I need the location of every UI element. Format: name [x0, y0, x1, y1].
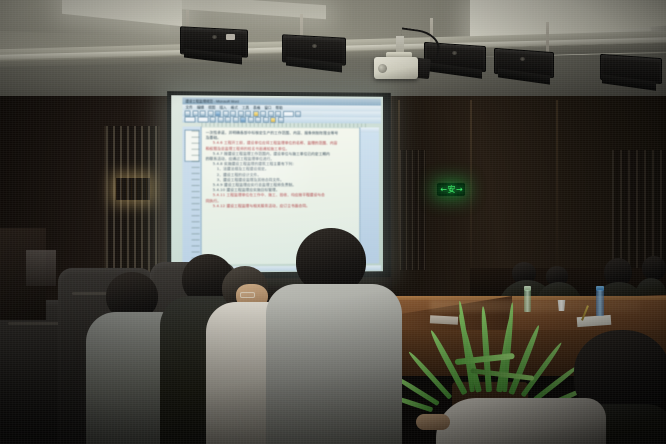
- lattice-screen: [400, 150, 426, 270]
- spotlight-lens: [312, 44, 317, 48]
- menu-item-insert[interactable]: 插入: [219, 105, 226, 110]
- attendee-torso: [266, 284, 402, 444]
- spotlight-lens: [520, 57, 525, 61]
- menu-item-file[interactable]: 文件: [185, 105, 192, 110]
- spotlight-lens: [452, 51, 457, 55]
- menu-item-edit[interactable]: 编辑: [197, 105, 204, 110]
- task-pane[interactable]: [359, 127, 379, 263]
- attendee-head: [642, 256, 666, 280]
- exit-sign: ← 安 →: [437, 183, 465, 196]
- menu-item-window[interactable]: 窗口: [264, 105, 271, 110]
- menu-item-tools[interactable]: 工具: [242, 105, 249, 110]
- ceiling-light-panel: [176, 0, 326, 19]
- menu-item-help[interactable]: 帮助: [276, 105, 283, 110]
- vertical-ruler: [192, 127, 200, 265]
- spotlight-label: [226, 34, 235, 40]
- lattice-screen: [104, 126, 160, 276]
- attendee-hand: [416, 414, 450, 430]
- style-selector[interactable]: [184, 116, 195, 122]
- projector-lens-icon: [378, 64, 387, 73]
- wall-panel-seam: [556, 100, 558, 280]
- conference-room-photo: ← 安 → 建设工程监理规范 - Microsoft Word 文件 编辑 视图…: [0, 0, 666, 444]
- document-line: 一次性承诺，并明确各部中标核定生产的工作范围、内容、报条例制年限业等号: [206, 131, 356, 137]
- attendee-torso: [436, 398, 606, 444]
- lattice-backlight: [116, 178, 150, 200]
- wall-panel-seam: [470, 100, 472, 280]
- exit-sign-glyph: ← 安 →: [440, 186, 462, 194]
- word-ruler[interactable]: [202, 123, 370, 128]
- notepad: [430, 315, 458, 324]
- document-line: 5.4.12 建设工程监理与相关服务活动，应订立书面合同。: [206, 204, 356, 209]
- eyeglasses-icon: [240, 292, 255, 298]
- menu-item-view[interactable]: 视图: [208, 105, 215, 110]
- menu-item-table[interactable]: 表格: [253, 105, 260, 110]
- task-pane-header: [360, 127, 379, 132]
- side-panel: [26, 250, 56, 286]
- word-title-text: 建设工程监理规范 - Microsoft Word: [185, 98, 238, 103]
- water-bottle-blue: [596, 290, 604, 316]
- support-rod: [546, 22, 549, 52]
- menu-item-format[interactable]: 格式: [231, 105, 238, 110]
- water-bottle-green: [524, 290, 531, 312]
- spotlight-lens: [212, 35, 217, 39]
